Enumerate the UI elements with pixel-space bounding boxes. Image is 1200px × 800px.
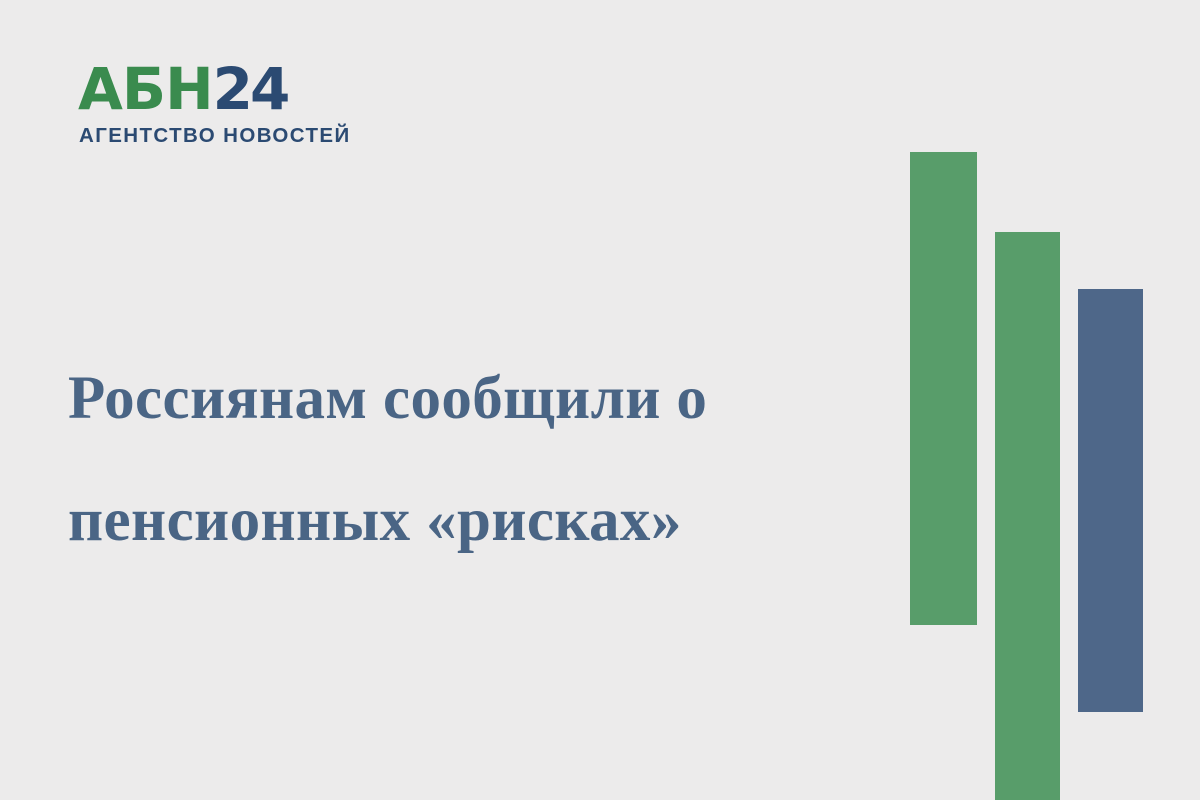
- logo-wordmark: АБН24: [78, 60, 378, 118]
- logo-wordmark-abn: АБН: [78, 55, 213, 123]
- headline-line-2: пенсионных «рисках»: [68, 460, 868, 582]
- news-card: АБН24 АГЕНТСТВО НОВОСТЕЙ Россиянам сообщ…: [0, 0, 1200, 800]
- logo-wordmark-24: 24: [213, 55, 288, 123]
- headline-line-1: Россиянам сообщили о: [68, 338, 868, 460]
- chart-bar-1: [910, 152, 977, 625]
- logo-tagline: АГЕНТСТВО НОВОСТЕЙ: [79, 124, 378, 148]
- page-title: Россиянам сообщили о пенсионных «рисках»: [68, 338, 868, 582]
- chart-bar-3: [1078, 289, 1143, 712]
- chart-bar-2: [995, 232, 1060, 800]
- brand-logo[interactable]: АБН24 АГЕНТСТВО НОВОСТЕЙ: [78, 60, 378, 148]
